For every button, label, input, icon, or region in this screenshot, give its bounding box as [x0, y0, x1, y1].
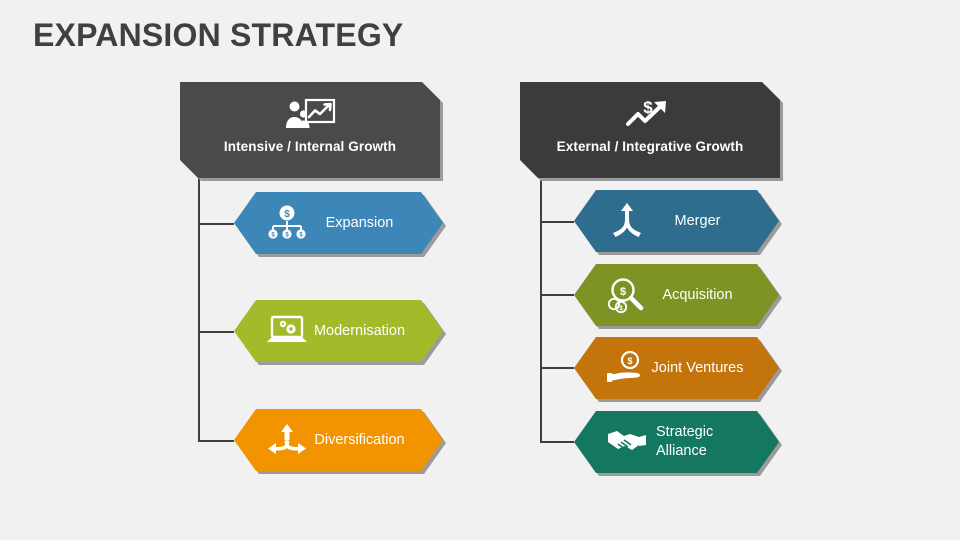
connector-trunk-right [540, 178, 542, 443]
item-label-strategic-alliance: Strategic Alliance [656, 411, 713, 473]
item-strategic-alliance[interactable]: Strategic Alliance [574, 411, 779, 473]
dollar-rising-arrow-icon: $ [520, 96, 780, 134]
connector-branch-acquisition [540, 294, 574, 296]
connector-branch-diversification [198, 440, 234, 442]
connector-trunk-left [198, 178, 200, 442]
item-joint-ventures[interactable]: $ Joint Ventures [574, 337, 779, 399]
connector-branch-expansion [198, 223, 234, 225]
header-card-intensive-growth[interactable]: Intensive / Internal Growth [180, 82, 440, 178]
item-label-acquisition: Acquisition [574, 264, 779, 326]
connector-branch-merger [540, 221, 574, 223]
header-card-external-growth[interactable]: $ External / Integrative Growth [520, 82, 780, 178]
handshake-icon [604, 411, 650, 473]
item-label-merger: Merger [574, 190, 779, 252]
item-label-expansion: Expansion [234, 192, 443, 254]
item-label-modernisation: Modernisation [234, 300, 443, 362]
connector-branch-strategic-alliance [540, 441, 574, 443]
item-merger[interactable]: Merger [574, 190, 779, 252]
item-expansion[interactable]: $ $ $ $ Expansion [234, 192, 443, 254]
column-external-growth: $ External / Integrative Growth Merger [500, 0, 940, 540]
connector-branch-joint-ventures [540, 367, 574, 369]
item-acquisition[interactable]: $ $ Acquisition [574, 264, 779, 326]
item-modernisation[interactable]: Modernisation [234, 300, 443, 362]
presenter-growth-chart-icon [180, 96, 440, 134]
svg-text:$: $ [643, 98, 653, 117]
item-label-diversification: Diversification [234, 409, 443, 471]
header-label-external-growth: External / Integrative Growth [520, 139, 780, 154]
item-label-joint-ventures: Joint Ventures [574, 337, 779, 399]
connector-branch-modernisation [198, 331, 234, 333]
item-diversification[interactable]: Diversification [234, 409, 443, 471]
header-label-intensive-growth: Intensive / Internal Growth [180, 139, 440, 154]
slide-canvas: EXPANSION STRATEGY [0, 0, 960, 540]
